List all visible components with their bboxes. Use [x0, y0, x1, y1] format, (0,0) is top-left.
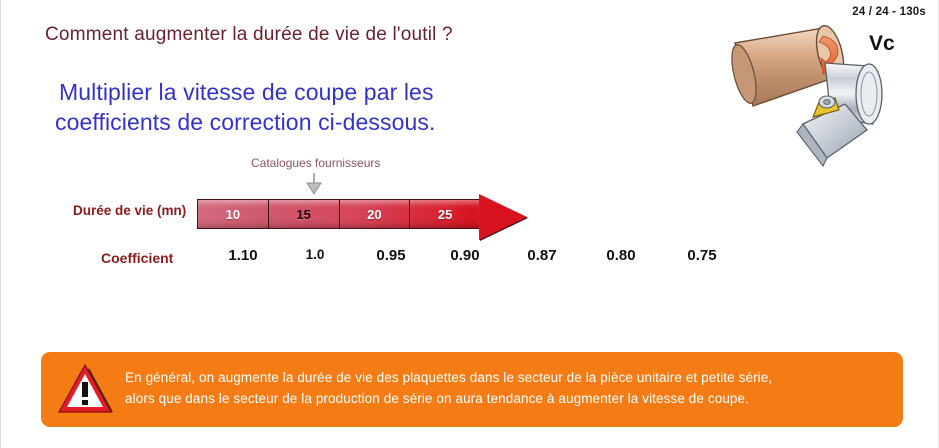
duration-row-label: Durée de vie (mn) — [73, 203, 186, 218]
warning-text: En général, on augmente la durée de vie … — [125, 368, 887, 410]
warning-line-2: alors que dans le secteur de la producti… — [125, 389, 887, 410]
coefficient-value: 1.0 — [306, 247, 325, 262]
subtitle: Multiplier la vitesse de coupe par les c… — [59, 78, 436, 138]
warning-triangle-icon — [57, 362, 115, 418]
duration-cell: 10 — [198, 200, 269, 228]
coefficient-value: 1.10 — [228, 247, 257, 264]
down-arrow-icon — [304, 173, 324, 195]
duration-cell: 15 — [269, 200, 340, 228]
coefficient-value: 0.75 — [687, 247, 716, 264]
coefficient-value: 0.95 — [376, 247, 405, 264]
subtitle-line-1: Multiplier la vitesse de coupe par les — [59, 79, 434, 105]
slide-counter: 24 / 24 - 130s — [852, 6, 926, 18]
coefficient-value: 0.80 — [606, 247, 635, 264]
warning-banner: En général, on augmente la durée de vie … — [41, 352, 903, 427]
coefficient-values-row: 1.101.00.950.900.870.800.75 — [197, 247, 785, 271]
warning-line-1: En général, on augmente la durée de vie … — [125, 370, 772, 385]
catalog-note-label: Catalogues fournisseurs — [251, 156, 380, 170]
duration-cell: 20 — [340, 200, 411, 228]
turning-operation-diagram — [727, 18, 933, 168]
duration-cell: 25 — [410, 200, 480, 228]
coefficient-value: 0.87 — [527, 247, 556, 264]
vc-label: Vc — [869, 32, 895, 56]
duration-arrow-bar: 10152025 — [197, 194, 549, 240]
subtitle-line-2: coefficients de correction ci-dessous. — [55, 108, 436, 138]
coefficient-value: 0.90 — [450, 247, 479, 264]
arrow-head-icon — [479, 194, 527, 240]
coefficient-row-label: Coefficient — [101, 250, 173, 266]
slide-root: 24 / 24 - 130s Comment augmenter la duré… — [0, 0, 939, 448]
page-title: Comment augmenter la durée de vie de l'o… — [45, 24, 453, 46]
duration-bar-body: 10152025 — [197, 199, 481, 229]
